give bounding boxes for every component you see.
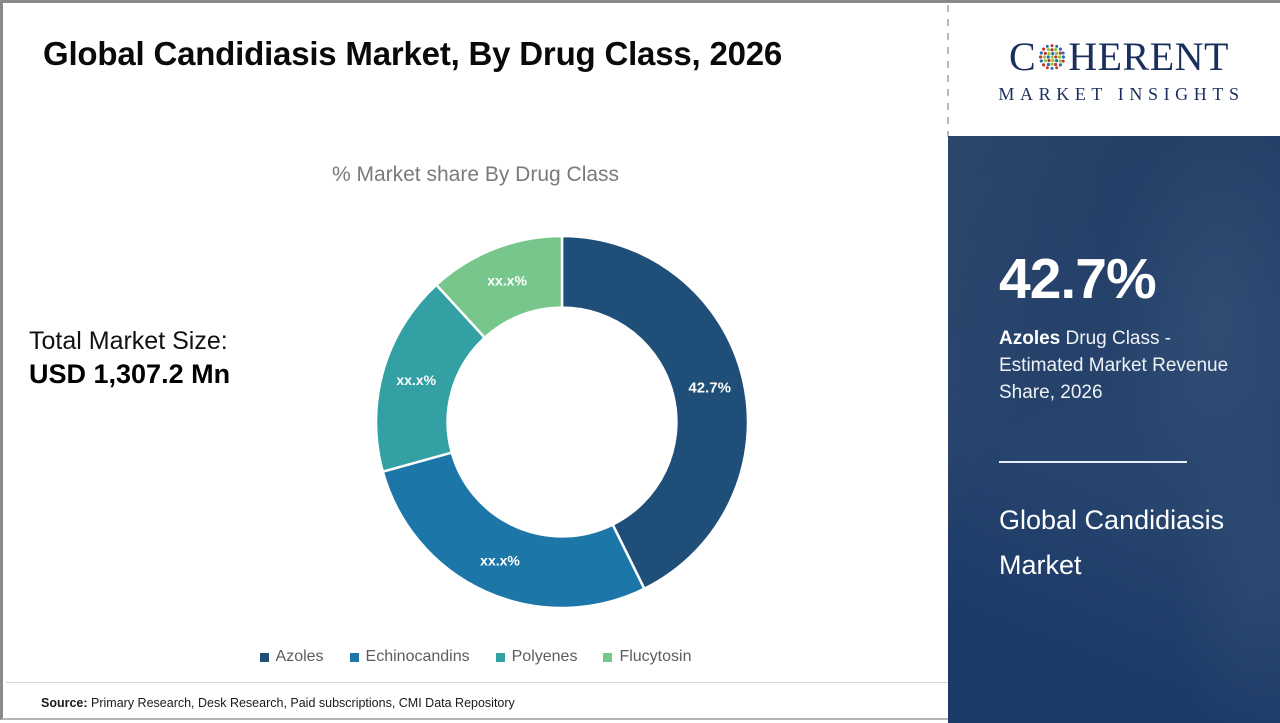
legend-label: Flucytosin [619,648,691,666]
donut-slice-label: xx.x% [396,372,436,388]
logo-name-part2: HERENT [1068,37,1229,77]
vertical-dashed-divider [947,5,949,137]
source-line: Source: Primary Research, Desk Research,… [41,696,515,710]
panel-footer-title: Global Candidiasis Market [999,498,1229,589]
legend-swatch-icon [350,653,359,662]
logo-wordmark: C [1009,37,1229,77]
donut-slice [383,453,645,608]
stat-value: 42.7% [999,251,1156,308]
legend-label: Azoles [276,648,324,666]
legend-item[interactable]: Polyenes [496,648,578,666]
page-title: Global Candidiasis Market, By Drug Class… [43,35,903,73]
infographic-root: Global Candidiasis Market, By Drug Class… [0,0,1280,720]
donut-slice-label: 42.7% [688,380,731,397]
globe-dots-icon [1037,42,1067,72]
legend-swatch-icon [603,653,612,662]
stat-caption-bold: Azoles [999,328,1060,349]
brand-logo: C [958,6,1280,136]
legend-item[interactable]: Echinocandins [350,648,470,666]
legend-item[interactable]: Azoles [260,648,324,666]
donut-slice-label: xx.x% [487,273,527,289]
legend-swatch-icon [260,653,269,662]
donut-slice-label: xx.x% [480,552,520,568]
chart-legend: AzolesEchinocandinsPolyenesFlucytosin [3,648,948,666]
chart-subtitle: % Market share By Drug Class [3,163,948,187]
chart-panel: Global Candidiasis Market, By Drug Class… [3,3,948,723]
donut-chart-svg: 42.7%xx.x%xx.x%xx.x% [376,231,748,613]
source-text: Primary Research, Desk Research, Paid su… [91,696,515,710]
source-label: Source: [41,696,88,710]
total-market-size-value: USD 1,307.2 Mn [29,357,329,392]
legend-swatch-icon [496,653,505,662]
logo-name-part1: C [1009,37,1036,77]
donut-chart: 42.7%xx.x%xx.x%xx.x% [376,231,748,613]
logo-tagline: MARKET INSIGHTS [993,84,1244,105]
highlight-panel: 42.7% Azoles Drug Class - Estimated Mark… [948,136,1280,723]
panel-divider [999,461,1187,463]
legend-label: Polyenes [512,648,578,666]
source-divider [6,682,948,683]
total-market-size-label: Total Market Size: [29,325,329,357]
panel-texture [948,136,1280,723]
legend-label: Echinocandins [366,648,470,666]
legend-item[interactable]: Flucytosin [603,648,691,666]
stat-caption: Azoles Drug Class - Estimated Market Rev… [999,326,1249,407]
donut-slice-group [376,236,748,608]
total-market-size-block: Total Market Size: USD 1,307.2 Mn [29,325,329,392]
